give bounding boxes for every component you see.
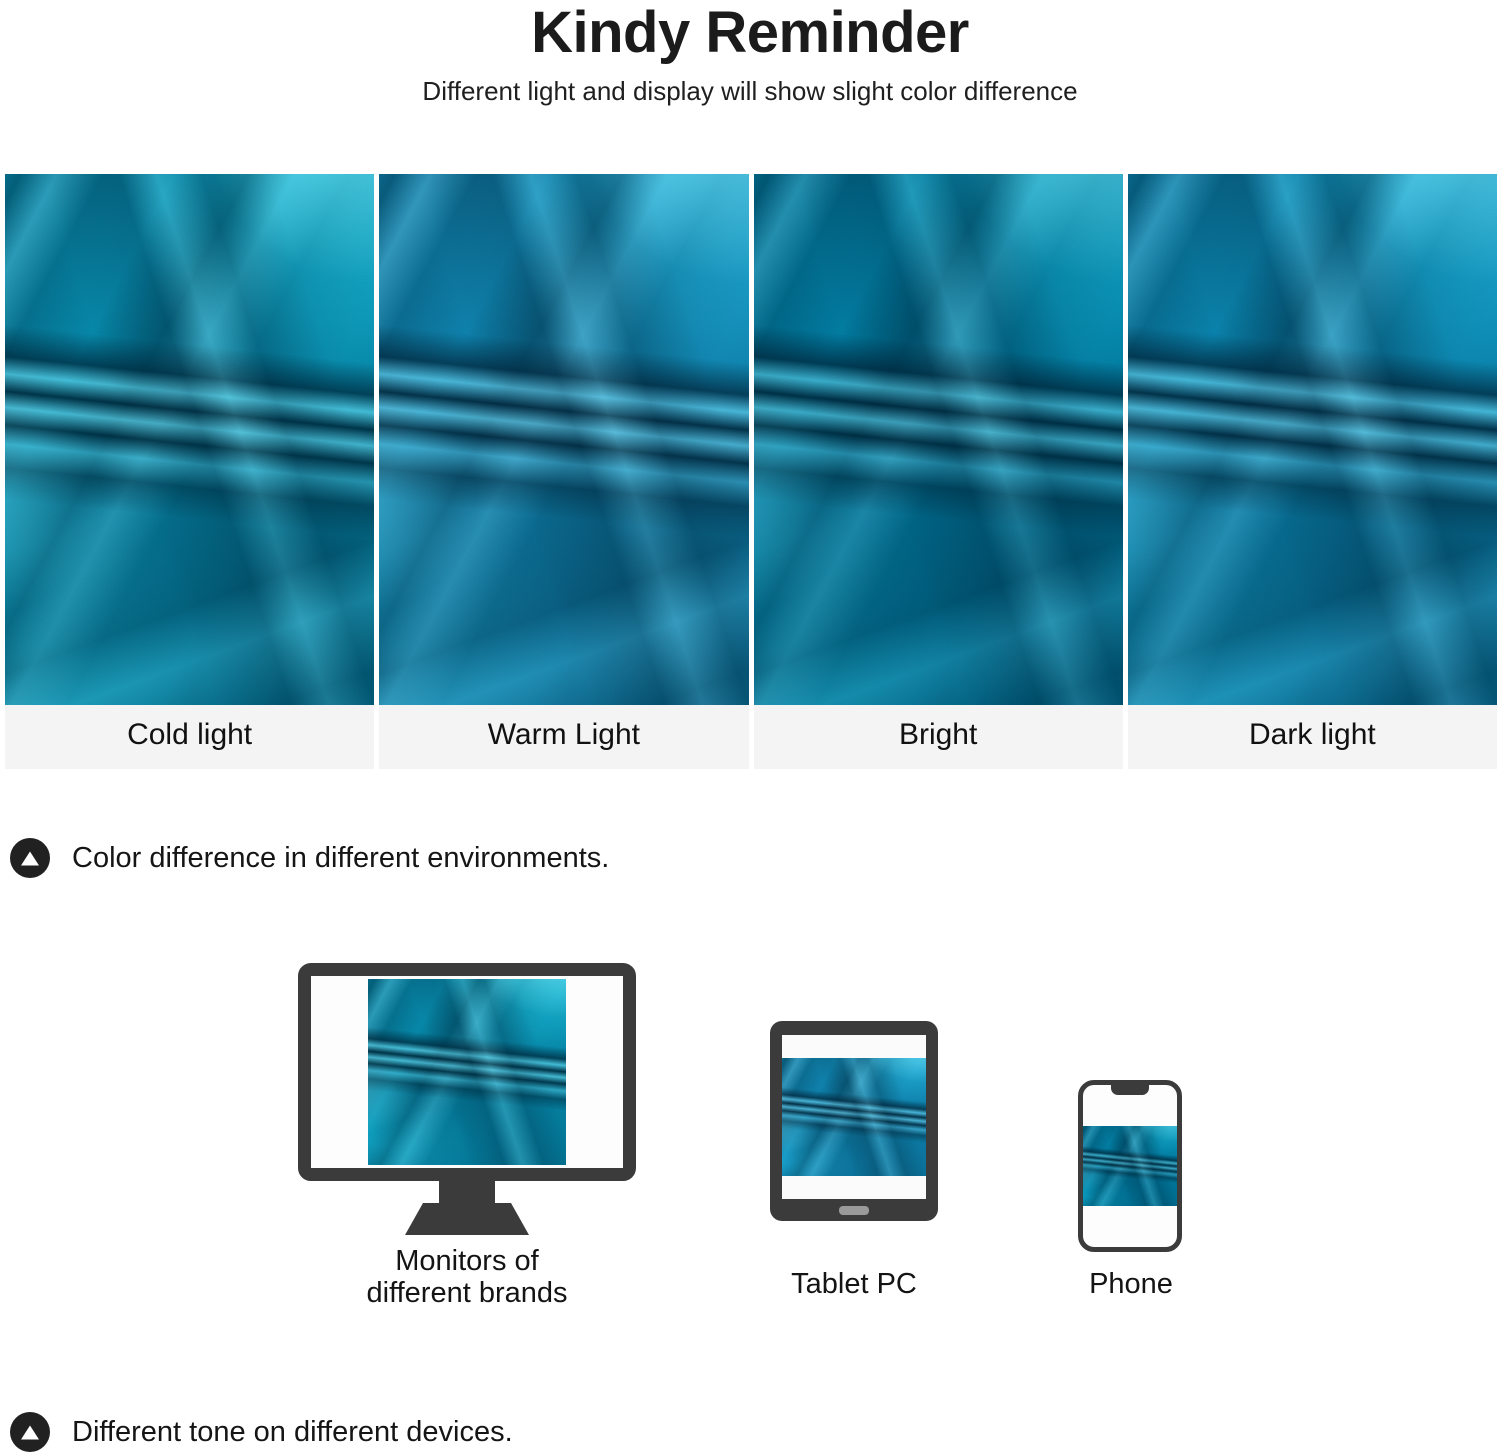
- page-title: Kindy Reminder: [0, 2, 1500, 65]
- fabric-photo-bright: [754, 174, 1123, 705]
- note-color-difference: Color difference in different environmen…: [10, 838, 609, 878]
- tablet-icon: [770, 1021, 938, 1221]
- phone-screen-fabric: [1083, 1126, 1177, 1206]
- phone-bezel: [1078, 1080, 1182, 1252]
- note-text-color-difference: Color difference in different environmen…: [72, 844, 609, 873]
- swatch-label-warm-light: Warm Light: [379, 705, 748, 769]
- tablet-screen: [782, 1035, 926, 1199]
- swatch-label-bright: Bright: [754, 705, 1123, 769]
- monitor-stand-neck: [439, 1179, 495, 1205]
- monitor-stand-base: [405, 1203, 529, 1235]
- page-subtitle: Different light and display will show sl…: [0, 77, 1500, 106]
- fabric-photo-cold-light: [5, 174, 374, 705]
- note-device-tone: Different tone on different devices.: [10, 1412, 513, 1452]
- tablet-screen-fabric: [782, 1058, 926, 1176]
- tablet-home-button[interactable]: [839, 1206, 869, 1215]
- swatch-cold-light: Cold light: [5, 174, 374, 769]
- fabric-photo-dark-light: [1128, 174, 1497, 705]
- note-text-device-tone: Different tone on different devices.: [72, 1418, 513, 1447]
- monitor-screen-fabric: [368, 979, 566, 1165]
- monitor-bezel: [298, 963, 636, 1181]
- page-header: Kindy Reminder Different light and displ…: [0, 0, 1500, 105]
- monitor-icon: [298, 963, 636, 1225]
- swatch-label-cold-light: Cold light: [5, 705, 374, 769]
- triangle-up-badge-icon: [10, 838, 50, 878]
- device-comparison-group: Monitors of different brands Tablet PC: [0, 955, 1500, 1375]
- swatch-bright: Bright: [754, 174, 1123, 769]
- device-label-monitor: Monitors of different brands: [298, 1245, 636, 1310]
- phone-icon: [1078, 1080, 1182, 1252]
- tablet-bezel: [770, 1021, 938, 1221]
- device-label-phone: Phone: [1058, 1268, 1204, 1300]
- triangle-up-badge-icon: [10, 1412, 50, 1452]
- swatch-dark-light: Dark light: [1128, 174, 1497, 769]
- swatch-warm-light: Warm Light: [379, 174, 748, 769]
- fabric-photo-warm-light: [379, 174, 748, 705]
- device-label-tablet: Tablet PC: [770, 1268, 938, 1300]
- light-condition-swatch-strip: Cold light Warm Light: [5, 174, 1497, 769]
- swatch-label-dark-light: Dark light: [1128, 705, 1497, 769]
- phone-notch: [1111, 1085, 1149, 1095]
